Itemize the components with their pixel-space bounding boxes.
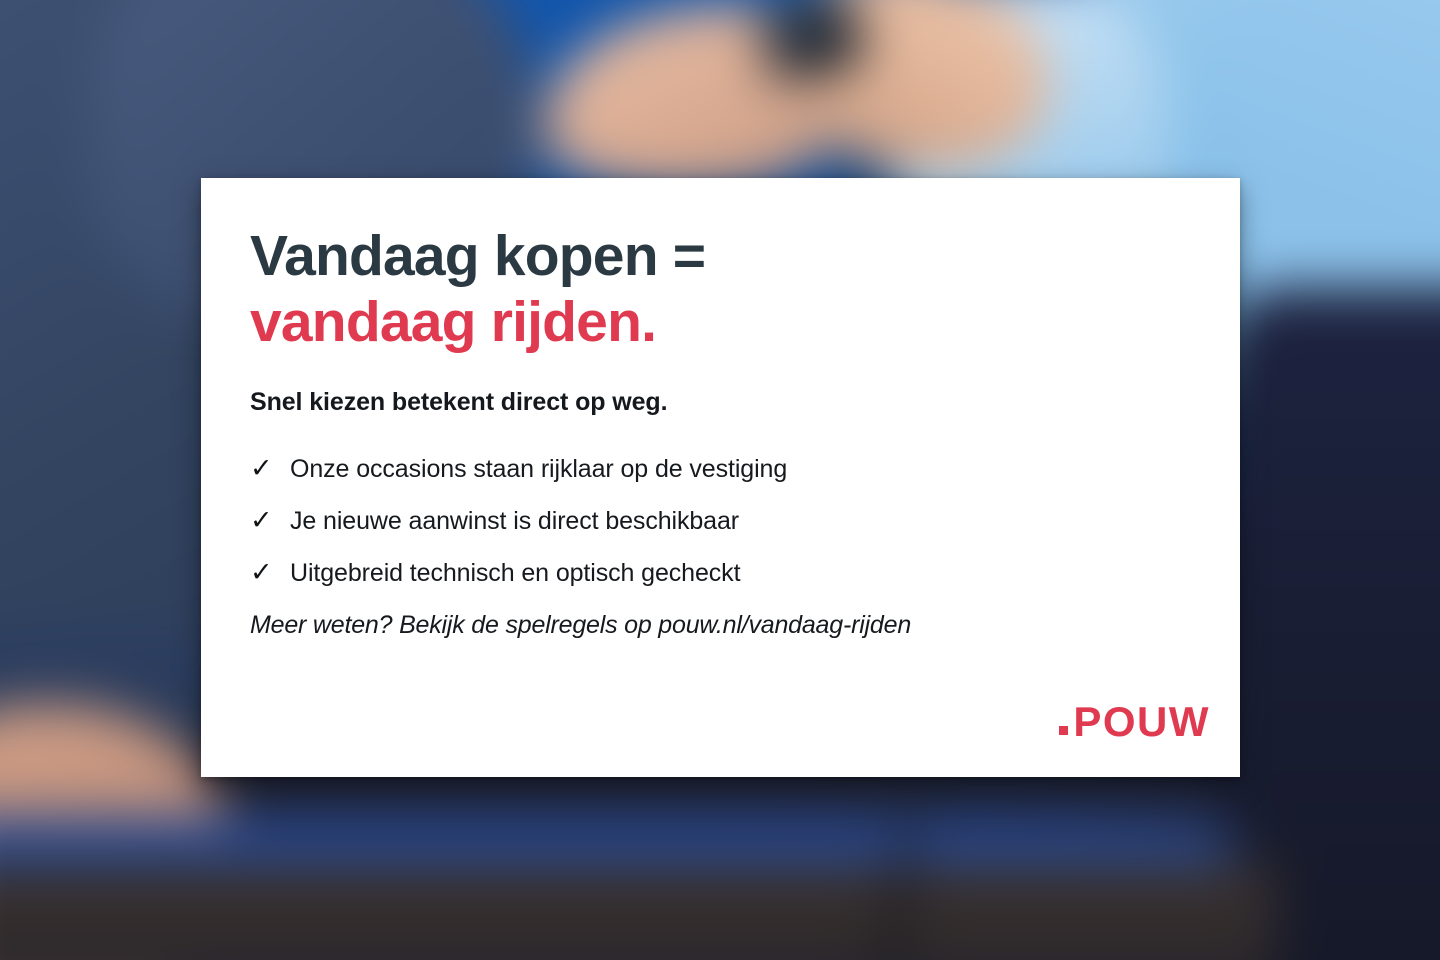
check-icon: ✓ [250, 559, 290, 586]
list-item: ✓ Uitgebreid technisch en optisch gechec… [250, 559, 1210, 588]
check-icon: ✓ [250, 455, 290, 482]
logo-wordmark: POUW [1073, 701, 1210, 743]
background-floor [0, 863, 1276, 960]
background-blue-floor-band [0, 817, 1234, 868]
promo-card-content: Vandaag kopen = vandaag rijden. Snel kie… [250, 223, 1210, 777]
logo-dot-icon [1059, 726, 1068, 735]
list-item: ✓ Onze occasions staan rijklaar op de ve… [250, 455, 1210, 484]
benefits-list: ✓ Onze occasions staan rijklaar op de ve… [250, 455, 1210, 588]
list-item: ✓ Je nieuwe aanwinst is direct beschikba… [250, 507, 1210, 536]
list-item-label: Onze occasions staan rijklaar op de vest… [290, 455, 787, 484]
pouw-logo: POUW [1059, 701, 1210, 743]
list-item-label: Je nieuwe aanwinst is direct beschikbaar [290, 507, 739, 536]
check-icon: ✓ [250, 507, 290, 534]
subheadline: Snel kiezen betekent direct op weg. [250, 388, 1210, 417]
headline-line-1: Vandaag kopen = [250, 223, 1210, 289]
footnote: Meer weten? Bekijk de spelregels op pouw… [250, 611, 1210, 640]
headline-line-2: vandaag rijden. [250, 289, 1210, 355]
screenshot-root: Vandaag kopen = vandaag rijden. Snel kie… [0, 0, 1440, 960]
headline: Vandaag kopen = vandaag rijden. [250, 223, 1210, 355]
background-trousers-right [1212, 287, 1440, 960]
promo-card: Vandaag kopen = vandaag rijden. Snel kie… [201, 178, 1240, 777]
list-item-label: Uitgebreid technisch en optisch gecheckt [290, 559, 740, 588]
